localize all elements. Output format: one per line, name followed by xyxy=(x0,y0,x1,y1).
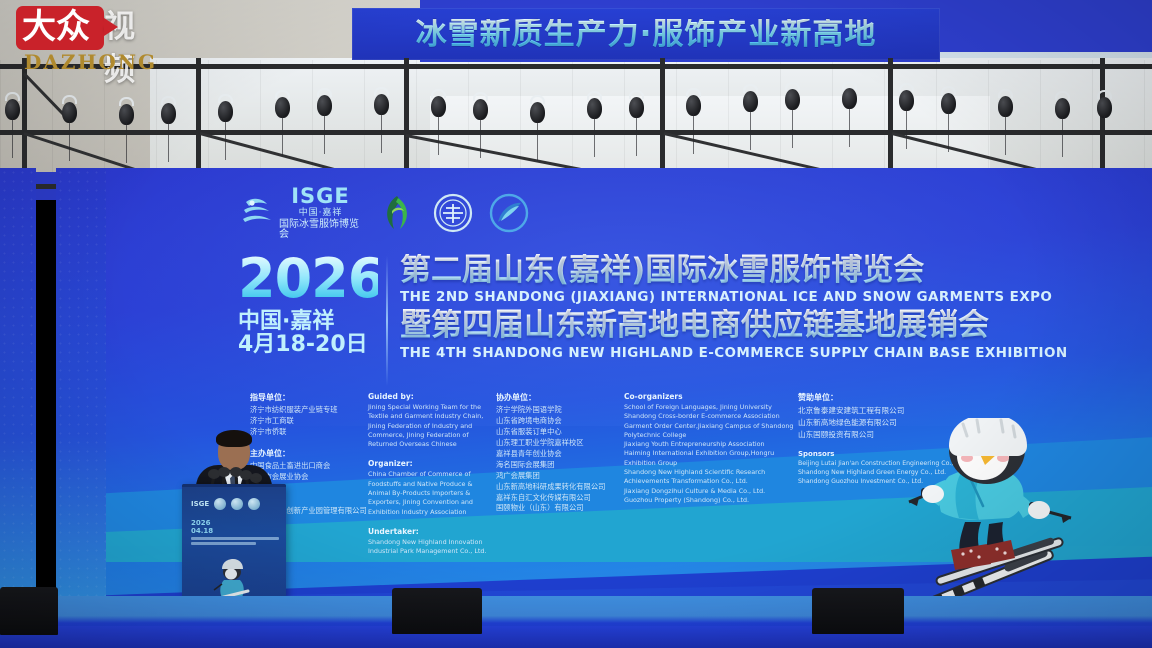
stage-monitor-center xyxy=(392,588,482,634)
stage-light-icon xyxy=(61,95,78,123)
stage-light-icon xyxy=(472,92,489,120)
expo-title-block: 2026 中国·嘉祥 4月18-20日 第二届山东(嘉祥)国际冰雪服饰博览会 T… xyxy=(238,254,1078,388)
sponsor-heading-cn: 赞助单位： xyxy=(798,392,1028,403)
stage-light-icon xyxy=(160,96,177,124)
event-stage-photo: 冰雪新质生产力·服饰产业新高地 xyxy=(0,0,1152,648)
play-triangle-icon xyxy=(104,18,118,36)
stage-light-icon xyxy=(841,81,858,109)
stage-light-icon xyxy=(1054,91,1071,119)
circular-seal-logo-icon xyxy=(432,192,474,234)
isge-location-text: 中国·嘉祥 xyxy=(299,209,343,218)
stage-front-edge xyxy=(0,626,1152,648)
stage-light-icon xyxy=(898,83,915,111)
podium-logo-row: ISGE xyxy=(191,496,277,512)
guided-heading-en: Guided by: xyxy=(368,392,496,401)
expo-main-title-cn: 第二届山东(嘉祥)国际冰雪服饰博览会 xyxy=(400,254,1078,287)
skier-mark-icon xyxy=(240,194,274,232)
dazhong-watermark: 大众 视频 DAZHONG xyxy=(8,6,160,68)
coorg-body-en: School of Foreign Languages, Jining Univ… xyxy=(624,403,796,505)
stage-light-icon xyxy=(118,97,135,125)
expo-sub-title-en: THE 4TH SHANDONG NEW HIGHLAND E-COMMERCE… xyxy=(400,345,1078,361)
isge-logo: ISGE 中国·嘉祥 国际冰雪服饰博览会 xyxy=(240,186,362,240)
side-banner-strip-2 xyxy=(56,168,111,598)
top-slogan-text: 冰雪新质生产力·服饰产业新高地 xyxy=(416,19,877,50)
expo-dates: 4月18-20日 xyxy=(238,333,378,357)
stage-light-icon xyxy=(373,87,390,115)
expo-year: 2026 xyxy=(238,254,378,304)
banner-backing-right xyxy=(940,0,1152,52)
credits-col-en: Guided by: Jining Special Working Team f… xyxy=(368,392,496,532)
organizer-heading-en: Organizer: xyxy=(368,459,496,468)
skiing-penguin-mascot xyxy=(905,418,1135,618)
guided-heading-cn: 指导单位： xyxy=(250,392,368,403)
blue-wave-logo-icon xyxy=(488,192,530,234)
stage-light-icon xyxy=(274,90,291,118)
stage-light-icon xyxy=(586,91,603,119)
podium-title-block: 2026 04.18 xyxy=(191,520,279,547)
stage-light-icon xyxy=(742,84,759,112)
undertaker-body-en: Shandong New Highland Innovation Industr… xyxy=(368,538,496,557)
expo-location: 中国·嘉祥 xyxy=(238,310,378,333)
podium-isge-text: ISGE xyxy=(191,501,209,508)
stage-light-icon xyxy=(217,94,234,122)
expo-main-title-en: THE 2ND SHANDONG (JIAXIANG) INTERNATIONA… xyxy=(400,289,1078,305)
isge-abbr-text: ISGE xyxy=(291,186,350,207)
stage-light-icon xyxy=(1096,90,1113,118)
top-slogan-banner: 冰雪新质生产力·服饰产业新高地 xyxy=(352,8,940,60)
organizer-body-en: China Chamber of Commerce of Foodstuffs … xyxy=(368,470,496,516)
green-leaf-logo-icon xyxy=(376,192,418,234)
stage-light-icon xyxy=(430,89,447,117)
stage-light-icon xyxy=(940,86,957,114)
stage-light-icon xyxy=(4,92,21,120)
podium-date: 04.18 xyxy=(191,528,279,536)
stage-light-icon xyxy=(628,90,645,118)
stage-light-icon xyxy=(997,89,1014,117)
title-divider xyxy=(386,256,388,386)
organizer-logo-row: ISGE 中国·嘉祥 国际冰雪服饰博览会 xyxy=(240,184,530,242)
coorg-body-cn: 济宁学院外国语学院山东省跨境电商协会山东省服装订单中心山东理工职业学院嘉祥校区嘉… xyxy=(496,405,624,514)
stage-light-icon xyxy=(784,82,801,110)
stage-light-icon xyxy=(529,95,546,123)
watermark-brand-cn: 大众 xyxy=(22,8,90,47)
watermark-brand-en: DAZHONG xyxy=(24,50,157,74)
credits-col-coorg-cn: 协办单位： 济宁学院外国语学院山东省跨境电商协会山东省服装订单中心山东理工职业学… xyxy=(496,392,624,532)
credits-col-coorg-en: Co-organizers School of Foreign Language… xyxy=(624,392,796,532)
podium: ISGE 2026 04.18 xyxy=(182,484,286,608)
undertaker-heading-en: Undertaker: xyxy=(368,527,496,536)
stage-light-icon xyxy=(316,88,333,116)
side-banner-strip-1 xyxy=(0,168,36,598)
podium-top-surface xyxy=(182,484,286,487)
coorg-heading-en: Co-organizers xyxy=(624,392,796,401)
stage-light-icon xyxy=(685,88,702,116)
guided-body-en: Jining Special Working Team for the Text… xyxy=(368,403,496,449)
isge-fullname-text: 国际冰雪服饰博览会 xyxy=(279,220,362,240)
expo-sub-title-cn: 暨第四届山东新高地电商供应链基地展销会 xyxy=(400,309,1078,342)
coorg-heading-cn: 协办单位： xyxy=(496,392,624,403)
stage-monitor-right xyxy=(812,588,904,634)
stage-monitor-left xyxy=(0,587,58,635)
